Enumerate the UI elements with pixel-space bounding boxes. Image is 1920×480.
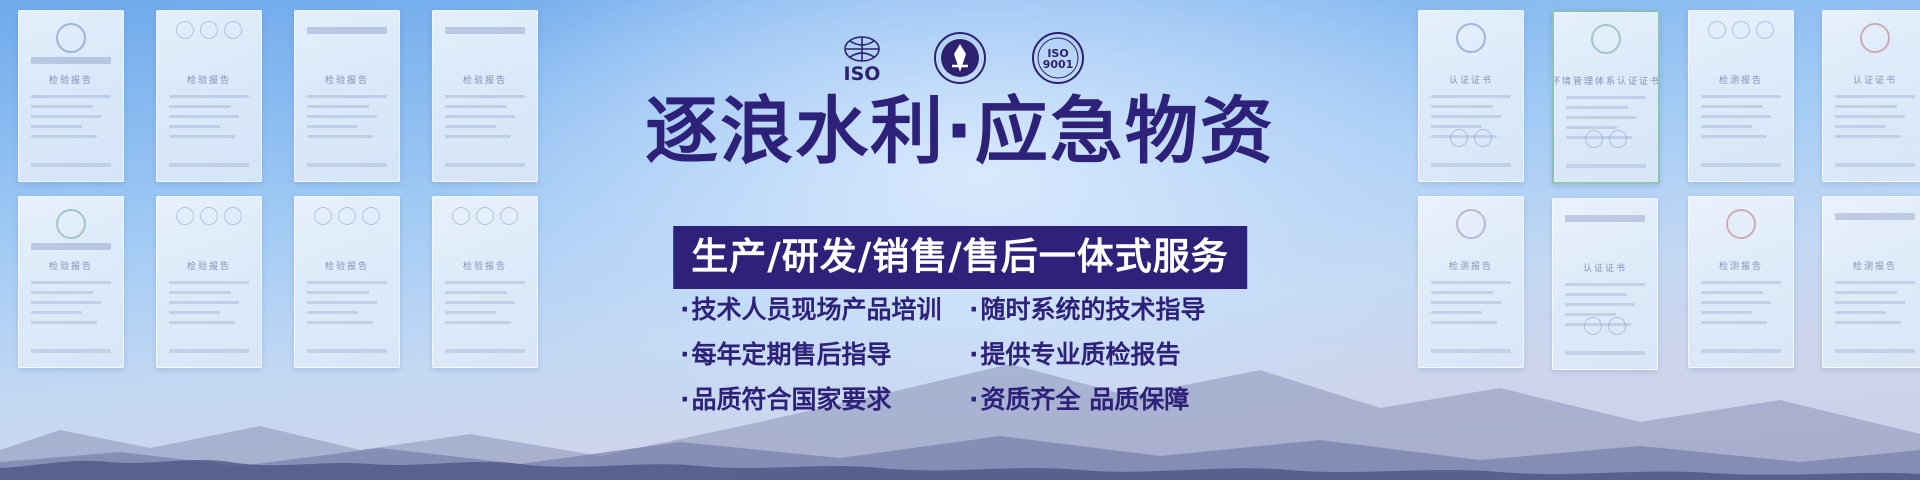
bullet-dot-icon: · [680,385,690,414]
iso-logo-label: ISO [844,63,881,85]
list-item-label: 随时系统的技术指导 [981,295,1206,324]
bullet-dot-icon: · [680,295,690,324]
bullet-dot-icon: · [969,340,979,369]
banner-content: ISO ISO 9001 [0,0,1920,480]
svg-text:9001: 9001 [1043,58,1074,71]
list-item-label: 提供专业质检报告 [981,340,1181,369]
iso-logo: ISO [834,30,890,86]
list-item: ·资质齐全 品质保障 [969,386,1240,415]
list-item: ·品质符合国家要求 [680,386,951,415]
list-item-label: 每年定期售后指导 [692,340,892,369]
certification-logo-row: ISO ISO 9001 [834,30,1086,86]
feature-bullet-list: ·技术人员现场产品培训 ·随时系统的技术指导 ·每年定期售后指导 ·提供专业质检… [680,296,1240,414]
list-item: ·提供专业质检报告 [969,341,1240,370]
promo-banner: 检验报告 检验报告 检验报告 检验报告 [0,0,1920,480]
list-item-label: 品质符合国家要求 [692,385,892,414]
bullet-dot-icon: · [680,340,690,369]
list-item-label: 资质齐全 品质保障 [981,385,1190,414]
list-item: ·随时系统的技术指导 [969,296,1240,325]
list-item: ·技术人员现场产品培训 [680,296,951,325]
bullet-dot-icon: · [969,385,979,414]
quality-inspection-logo [932,30,988,86]
page-title: 逐浪水利·应急物资 [645,95,1275,168]
list-item-label: 技术人员现场产品培训 [692,295,942,324]
list-item: ·每年定期售后指导 [680,341,951,370]
iso9001-logo: ISO 9001 [1030,30,1086,86]
service-tagline-bar: 生产/研发/销售/售后一体式服务 [673,226,1247,289]
bullet-dot-icon: · [969,295,979,324]
